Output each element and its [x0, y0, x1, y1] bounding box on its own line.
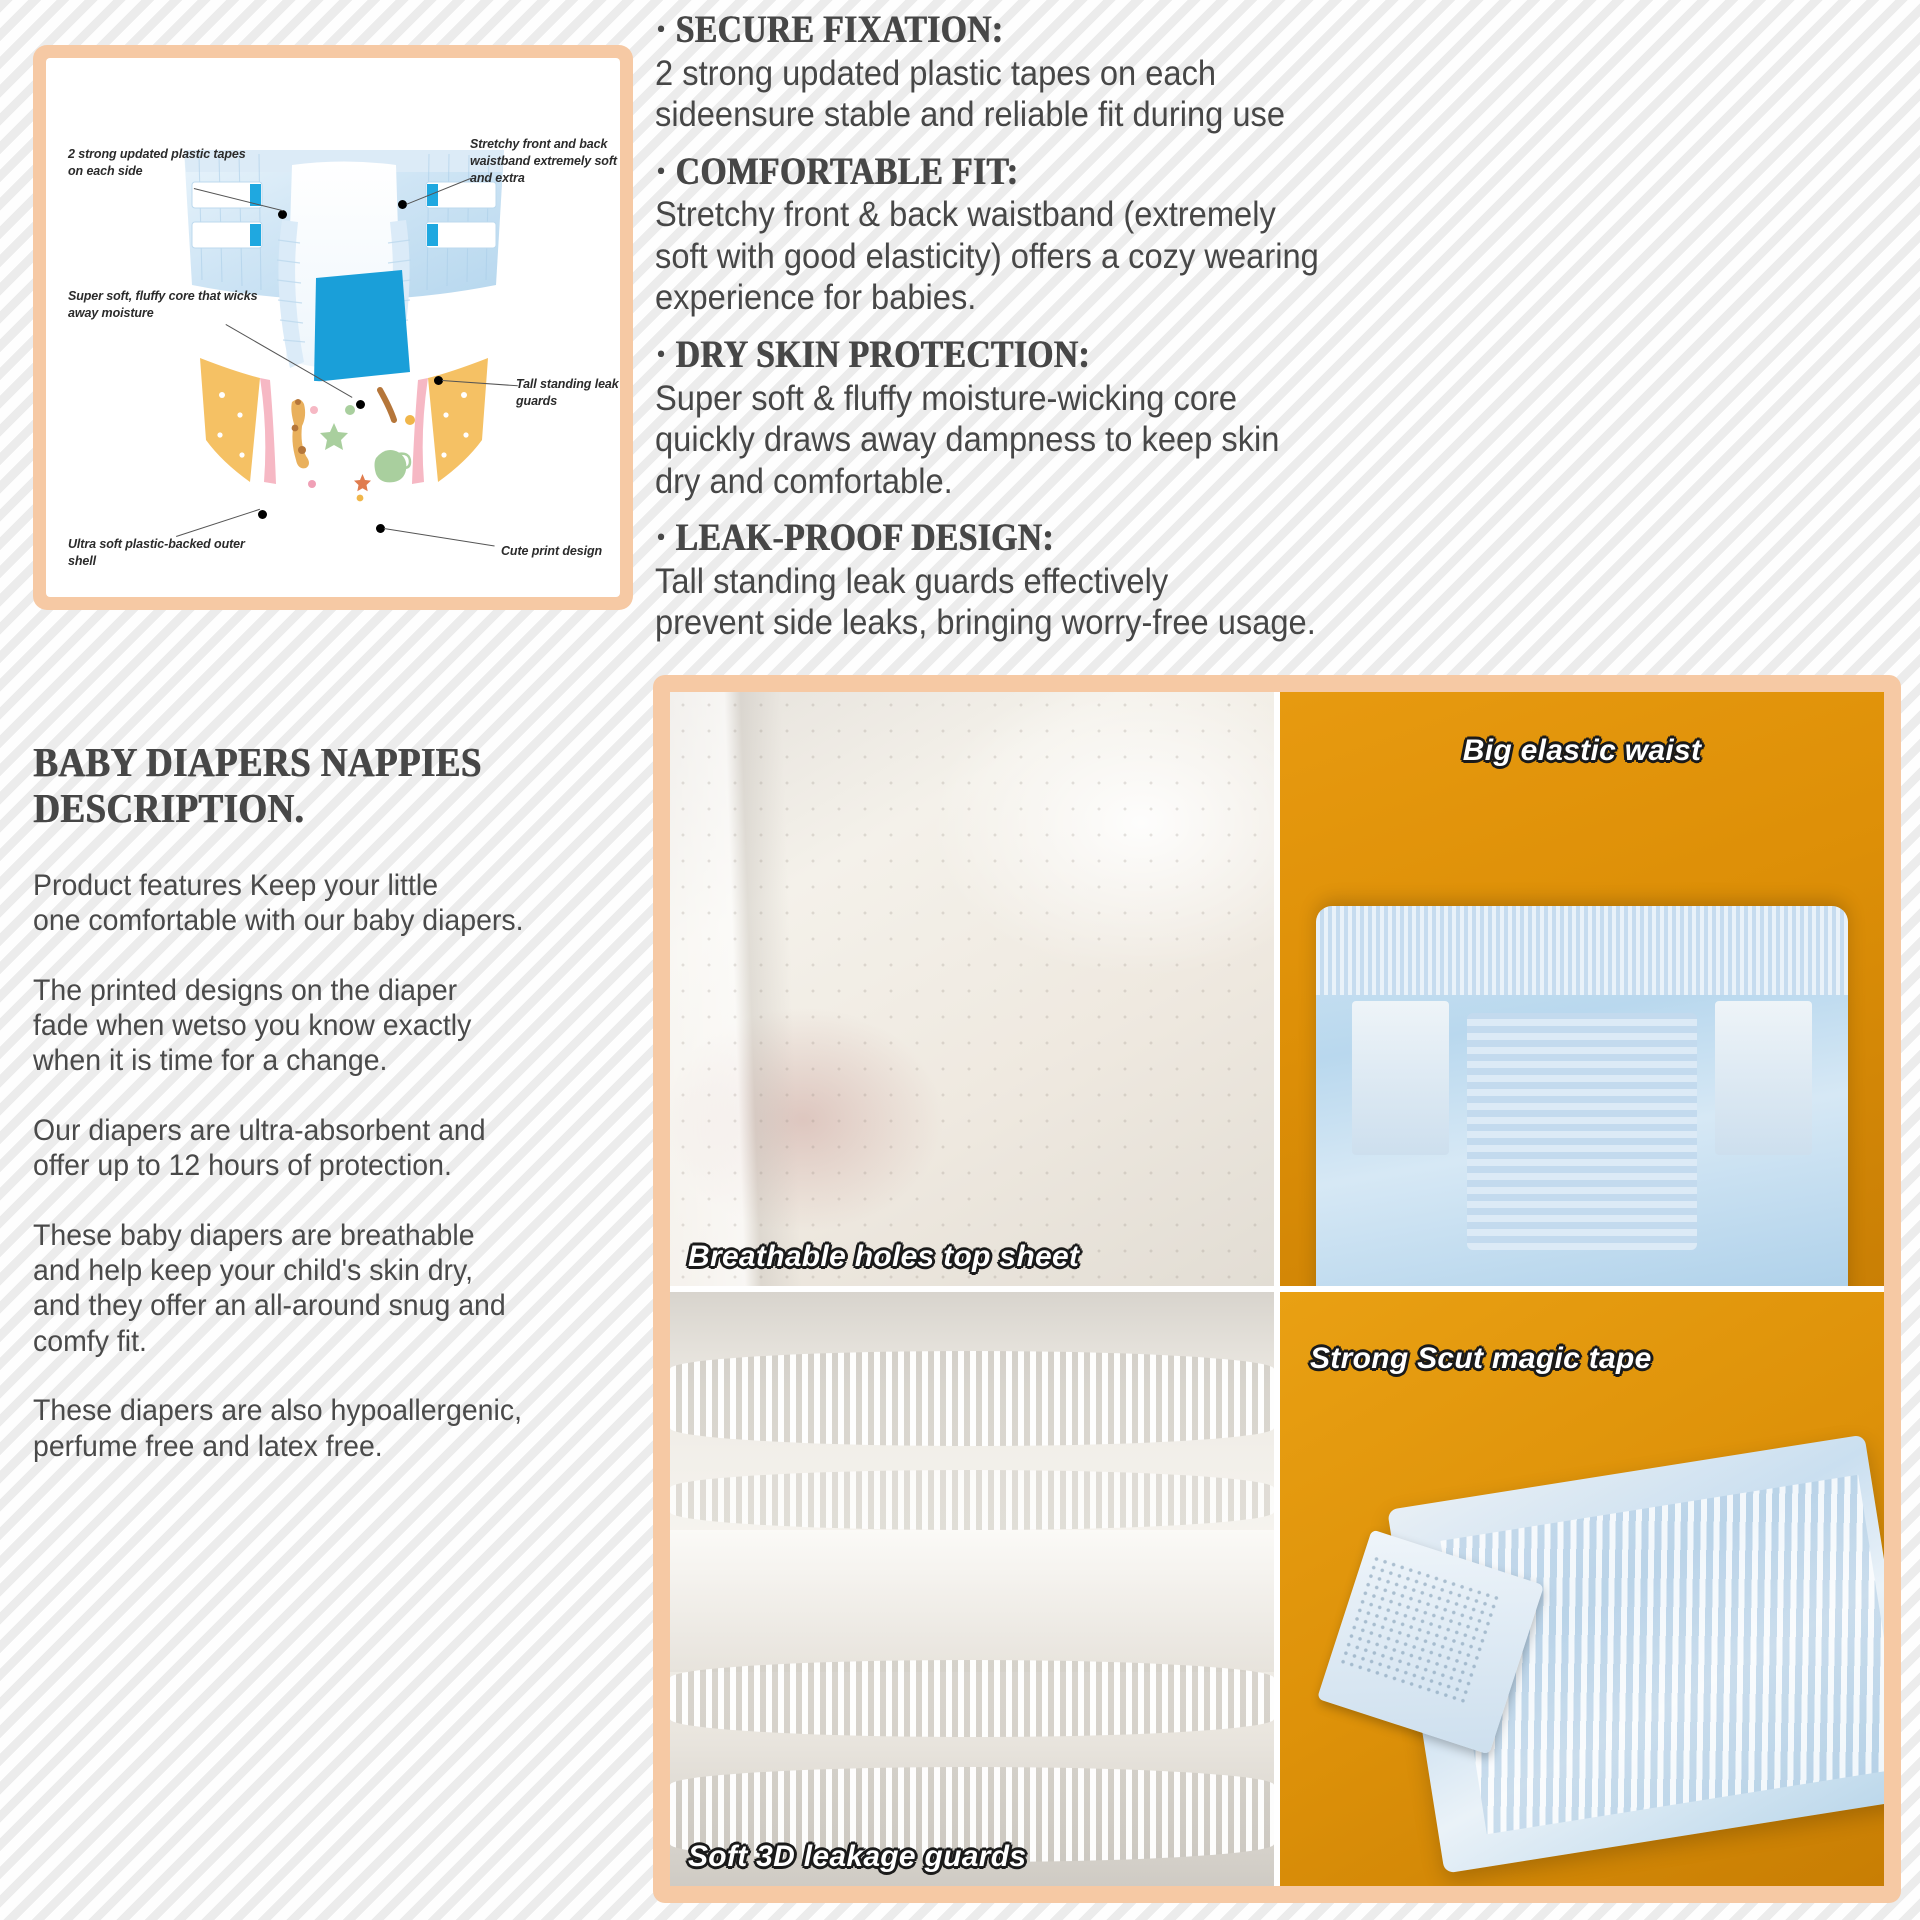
- photo-strong-magic-tape: Strong Scut magic tape: [1280, 1292, 1884, 1886]
- feature-heading: · LEAK-PROOF DESIGN:: [655, 516, 1726, 560]
- description-paragraph: These diapers are also hypoallergenic, p…: [33, 1393, 651, 1464]
- photo-big-elastic-waist: Big elastic waist: [1280, 692, 1884, 1286]
- ruffle-shape: [670, 1351, 1274, 1446]
- diagram-dot-core: [356, 400, 365, 409]
- photo-caption: Soft 3D leakage guards: [688, 1840, 1026, 1874]
- product-photo-grid-card: Breathable holes top sheet Big elastic w…: [653, 675, 1901, 1903]
- photo-caption: Strong Scut magic tape: [1310, 1342, 1652, 1376]
- photo-soft-3d-leakage-guards: Soft 3D leakage guards: [670, 1292, 1274, 1886]
- diaper-diagram-canvas: 2 strong updated plastic tapes on each s…: [46, 58, 620, 597]
- diagram-label-outershell: Ultra soft plastic-backed outer shell: [68, 536, 268, 570]
- feature-body: Tall standing leak guards effectively pr…: [655, 561, 1800, 644]
- description-paragraph: Our diapers are ultra-absorbent and offe…: [33, 1113, 651, 1184]
- feature-leak-proof-design: · LEAK-PROOF DESIGN: Tall standing leak …: [655, 516, 1900, 644]
- feature-body: Stretchy front & back waistband (extreme…: [655, 194, 1800, 319]
- photo-caption: Breathable holes top sheet: [688, 1240, 1079, 1274]
- description-paragraph: The printed designs on the diaper fade w…: [33, 973, 651, 1079]
- product-photo-grid: Breathable holes top sheet Big elastic w…: [670, 692, 1884, 1886]
- feature-dry-skin-protection: · DRY SKIN PROTECTION: Super soft & fluf…: [655, 333, 1900, 502]
- feature-heading: · DRY SKIN PROTECTION:: [655, 333, 1726, 377]
- photo-caption: Big elastic waist: [1463, 734, 1702, 768]
- diagram-dot-outershell: [258, 510, 267, 519]
- guard-mid-panel: [670, 1530, 1274, 1673]
- diagram-label-waistband: Stretchy front and back waistband extrem…: [470, 136, 620, 187]
- description-paragraph: These baby diapers are breathable and he…: [33, 1218, 651, 1360]
- core-panel-shape: [1467, 1013, 1697, 1251]
- ruffle-shape: [670, 1470, 1274, 1529]
- feature-secure-fixation: · SECURE FIXATION: 2 strong updated plas…: [655, 8, 1900, 136]
- diagram-label-print: Cute print design: [501, 543, 620, 560]
- diagram-label-leakguards: Tall standing leak guards: [516, 376, 620, 410]
- description-section: BABY DIAPERS NAPPIES DESCRIPTION. Produc…: [33, 740, 673, 1498]
- tape-right-shape: [1715, 1001, 1812, 1155]
- photo-fold-highlight: [670, 692, 958, 1286]
- photo-breathable-top-sheet: Breathable holes top sheet: [670, 692, 1274, 1286]
- description-title: BABY DIAPERS NAPPIES DESCRIPTION.: [33, 740, 609, 832]
- feature-comfortable-fit: · COMFORTABLE FIT: Stretchy front & back…: [655, 150, 1900, 319]
- feature-body: 2 strong updated plastic tapes on each s…: [655, 53, 1800, 136]
- description-paragraph: Product features Keep your little one co…: [33, 868, 651, 939]
- elastic-waistband-shape: [1316, 906, 1848, 995]
- tape-left-shape: [1352, 1001, 1449, 1155]
- diaper-diagram-card: 2 strong updated plastic tapes on each s…: [33, 45, 633, 610]
- ruffle-shape: [670, 1660, 1274, 1737]
- feature-list: · SECURE FIXATION: 2 strong updated plas…: [655, 8, 1900, 658]
- feature-body: Super soft & fluffy moisture-wicking cor…: [655, 378, 1800, 503]
- diagram-label-core: Super soft, fluffy core that wicks away …: [68, 288, 268, 322]
- diagram-label-tapes: 2 strong updated plastic tapes on each s…: [68, 146, 248, 180]
- infographic-page: 2 strong updated plastic tapes on each s…: [0, 0, 1920, 1920]
- feature-heading: · SECURE FIXATION:: [655, 8, 1726, 52]
- feature-heading: · COMFORTABLE FIT:: [655, 150, 1726, 194]
